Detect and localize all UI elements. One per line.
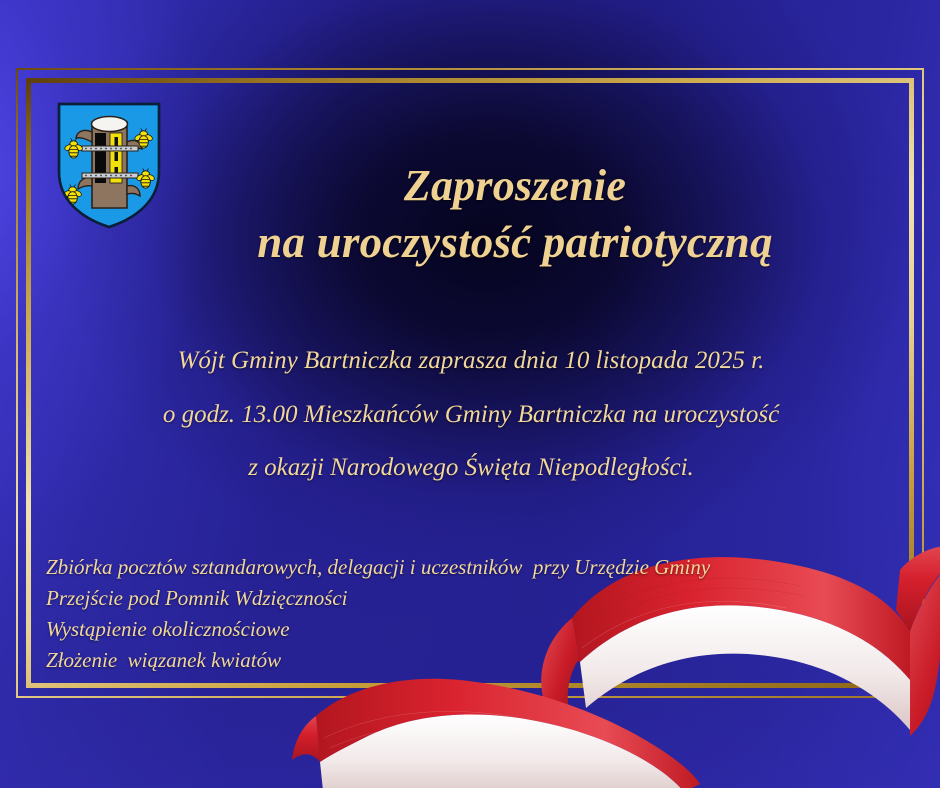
- invitation-poster: Zaproszenie na uroczystość patriotyczną …: [0, 0, 940, 788]
- program-line-3: Wystąpienie okolicznościowe: [46, 614, 866, 645]
- program-line-2: Przejście pod Pomnik Wdzięczności: [46, 583, 866, 614]
- body-line-3: z okazji Narodowego Święta Niepodległośc…: [40, 455, 902, 481]
- invitation-body: Wójt Gminy Bartniczka zaprasza dnia 10 l…: [40, 348, 902, 481]
- title-line-1: Zaproszenie: [120, 158, 910, 214]
- program-list: Zbiórka pocztów sztandarowych, delegacji…: [46, 552, 866, 676]
- page-title: Zaproszenie na uroczystość patriotyczną: [120, 158, 910, 272]
- body-line-1: Wójt Gminy Bartniczka zaprasza dnia 10 l…: [40, 348, 902, 374]
- body-line-2: o godz. 13.00 Mieszkańców Gminy Bartnicz…: [40, 402, 902, 428]
- program-line-4: Złożenie wiązanek kwiatów: [46, 645, 866, 676]
- title-line-2: na uroczystość patriotyczną: [120, 214, 910, 272]
- program-line-1: Zbiórka pocztów sztandarowych, delegacji…: [46, 552, 866, 583]
